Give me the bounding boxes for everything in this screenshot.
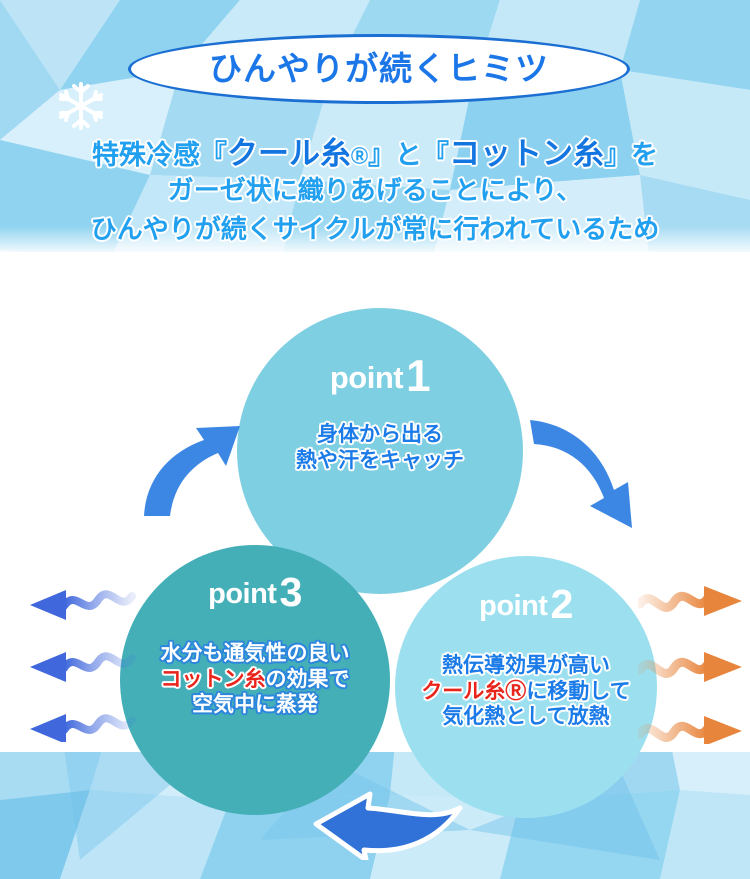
point-3-line-1: 水分も通気性の良い — [161, 641, 350, 667]
point-2-line-2: クール糸Ⓡに移動して — [421, 679, 630, 705]
point-2-highlight: クール糸Ⓡ — [421, 680, 526, 703]
point-3-line-2: コットン糸の効果で — [161, 667, 350, 693]
wavy-arrow-right-icon-group — [638, 582, 750, 744]
point-2-line-1: 熱伝導効果が高い — [421, 653, 630, 679]
point-2-circle: point2 熱伝導効果が高い クール糸Ⓡに移動して 気化熱として放熱 — [395, 556, 657, 818]
point-2-number: 2 — [550, 581, 572, 627]
subtitle-prefix: 特殊冷感『 — [92, 140, 227, 170]
point-3-label: point3 — [208, 572, 302, 613]
arrow-left-icon — [300, 786, 464, 860]
subtitle-suffix: 』を — [604, 140, 658, 170]
point-3-line-2-rest: の効果で — [266, 668, 350, 691]
arrow-up-right-icon — [140, 408, 262, 520]
subtitle-block: 特殊冷感『クール糸Ⓡ』と『コットン糸』を ガーゼ状に織りあげることにより、 ひん… — [0, 134, 750, 246]
wavy-arrow-left-icon-group — [22, 586, 136, 742]
point-3-line-3: 空気中に蒸発 — [161, 692, 350, 718]
point-1-description: 身体から出る 熱や汗をキャッチ — [296, 422, 464, 473]
point-2-label: point2 — [479, 584, 573, 625]
subtitle-term-cool: クール糸 — [227, 136, 351, 171]
point-2-description: 熱伝導効果が高い クール糸Ⓡに移動して 気化熱として放熱 — [421, 653, 630, 730]
point-1-number: 1 — [406, 352, 430, 401]
point-3-circle: point3 水分も通気性の良い コットン糸の効果で 空気中に蒸発 — [120, 545, 390, 815]
infographic-root: ひんやりが続くヒミツ 特殊冷感『クール糸Ⓡ』と『コットン糸』を ガーゼ状に織りあ… — [0, 0, 750, 879]
subtitle-line-2: ガーゼ状に織りあげることにより、 — [0, 174, 750, 207]
point-3-number: 3 — [279, 569, 301, 615]
subtitle-line-1: 特殊冷感『クール糸Ⓡ』と『コットン糸』を — [0, 134, 750, 174]
point-3-description: 水分も通気性の良い コットン糸の効果で 空気中に蒸発 — [161, 641, 350, 718]
point-2-label-text: point — [479, 590, 547, 622]
point-2-line-2-rest: に移動して — [526, 680, 630, 703]
point-1-line-2: 熱や汗をキャッチ — [296, 448, 464, 474]
snowflake-icon — [55, 80, 107, 132]
point-3-highlight: コットン糸 — [161, 668, 266, 691]
subtitle-middle: 』と『 — [368, 140, 449, 170]
registered-mark-icon: Ⓡ — [351, 147, 368, 166]
point-2-line-3: 気化熱として放熱 — [421, 704, 630, 730]
point-1-line-1: 身体から出る — [296, 422, 464, 448]
subtitle-term-cotton: コットン糸 — [449, 136, 604, 171]
arrow-down-right-icon — [528, 408, 650, 532]
page-title: ひんやりが続くヒミツ — [209, 52, 549, 85]
point-1-label-text: point — [330, 360, 403, 395]
title-badge: ひんやりが続くヒミツ — [128, 34, 630, 104]
point-3-label-text: point — [208, 578, 276, 610]
subtitle-line-3: ひんやりが続くサイクルが常に行われているため — [0, 213, 750, 246]
point-1-label: point1 — [330, 355, 430, 399]
